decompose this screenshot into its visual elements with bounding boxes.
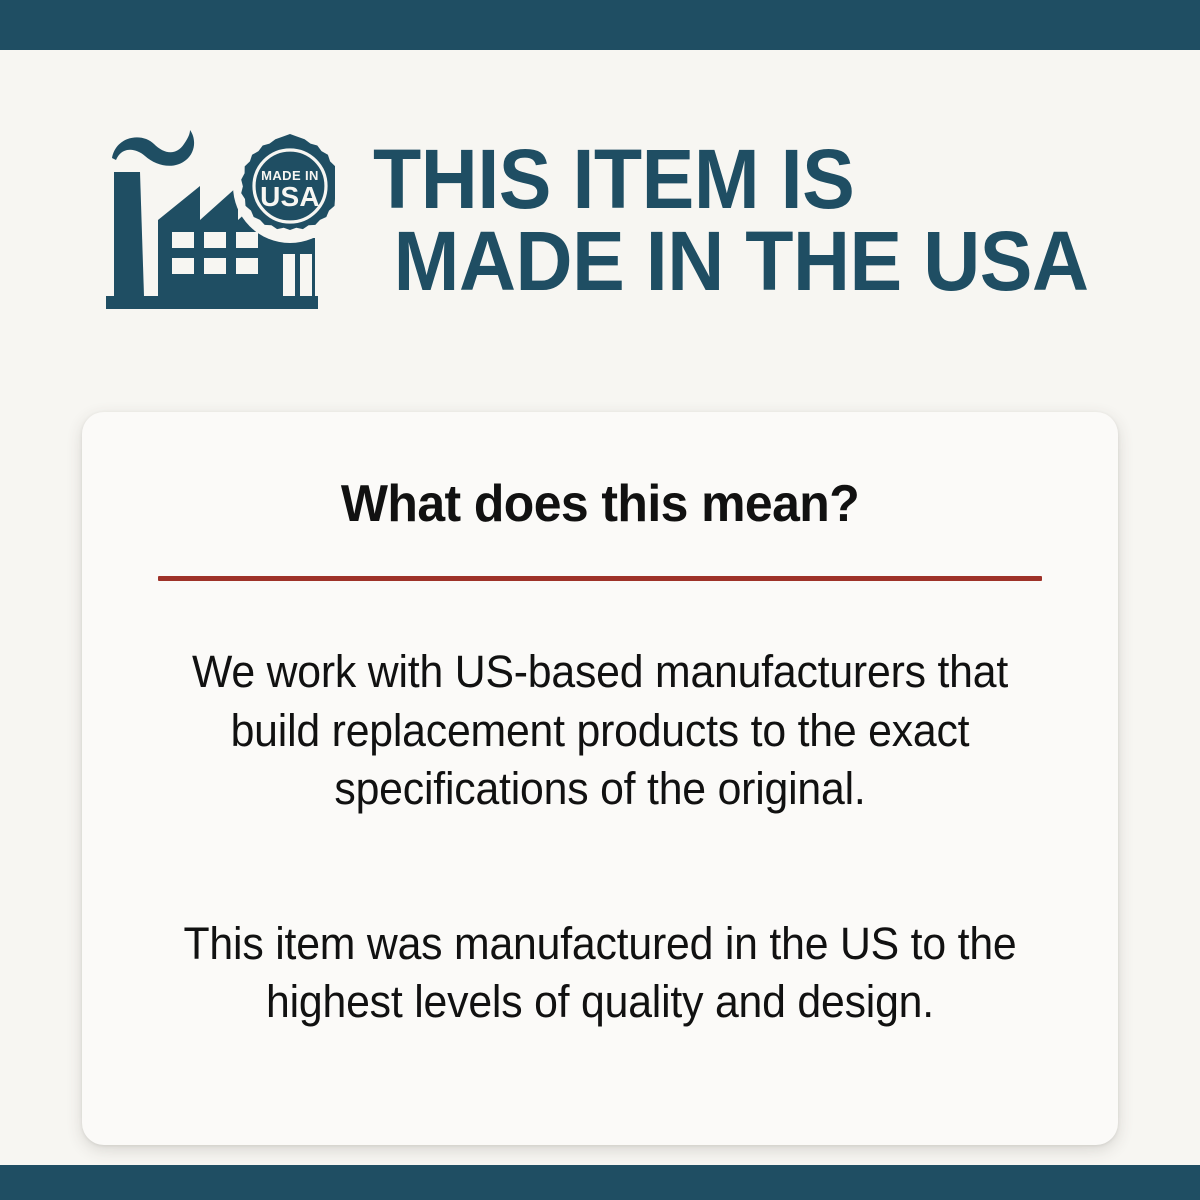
headline-line-2: MADE IN THE USA xyxy=(373,220,1113,302)
card-paragraph-2: This item was manufactured in the US to … xyxy=(165,915,1035,1032)
banner: MADE IN USA THIS ITEM IS MADE IN THE USA xyxy=(100,100,1160,340)
headline-line-1: THIS ITEM IS xyxy=(373,138,1113,220)
bottom-accent-bar xyxy=(0,1165,1200,1200)
card-paragraph-1: We work with US-based manufacturers that… xyxy=(165,643,1035,819)
top-accent-bar xyxy=(0,0,1200,50)
banner-headline: THIS ITEM IS MADE IN THE USA xyxy=(373,138,1113,303)
title-divider xyxy=(158,576,1042,581)
card-title: What does this mean? xyxy=(160,474,1039,534)
svg-text:USA: USA xyxy=(260,181,320,212)
page-canvas: MADE IN USA THIS ITEM IS MADE IN THE USA… xyxy=(0,50,1200,1165)
factory-icon: MADE IN USA xyxy=(100,128,335,313)
info-card: What does this mean? We work with US-bas… xyxy=(82,412,1118,1145)
